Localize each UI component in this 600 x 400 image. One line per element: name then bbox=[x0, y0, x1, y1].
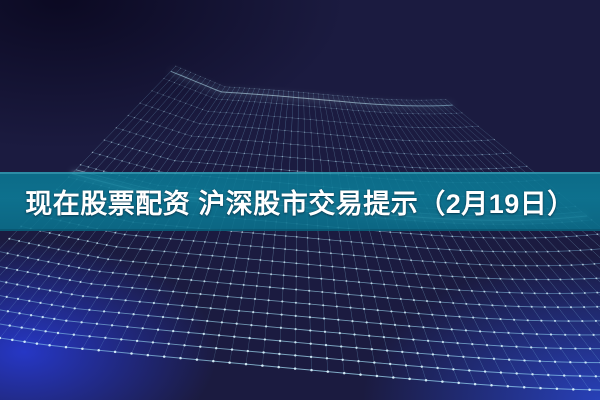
banner-image: 现在股票配资 沪深股市交易提示（2月19日） bbox=[0, 0, 600, 400]
headline-text: 现在股票配资 沪深股市交易提示（2月19日） bbox=[0, 172, 600, 231]
